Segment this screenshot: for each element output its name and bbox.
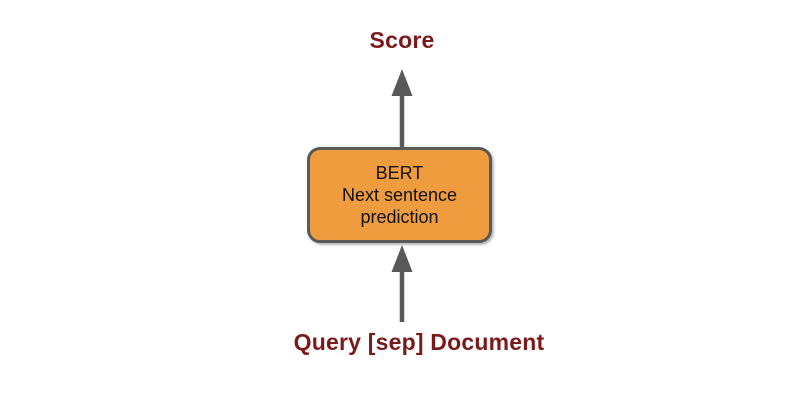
module-line-task-2: prediction	[360, 206, 438, 228]
diagram-canvas: Score BERT Next sentence prediction Quer…	[0, 0, 800, 400]
module-line-title: BERT	[376, 162, 424, 184]
arrow-module-to-output	[392, 69, 413, 147]
output-label-score: Score	[0, 27, 800, 54]
arrow-input-to-module	[392, 245, 413, 322]
module-line-task-1: Next sentence	[342, 184, 457, 206]
input-label-query-document: Query [sep] Document	[0, 329, 800, 356]
bert-module-box: BERT Next sentence prediction	[307, 147, 492, 243]
